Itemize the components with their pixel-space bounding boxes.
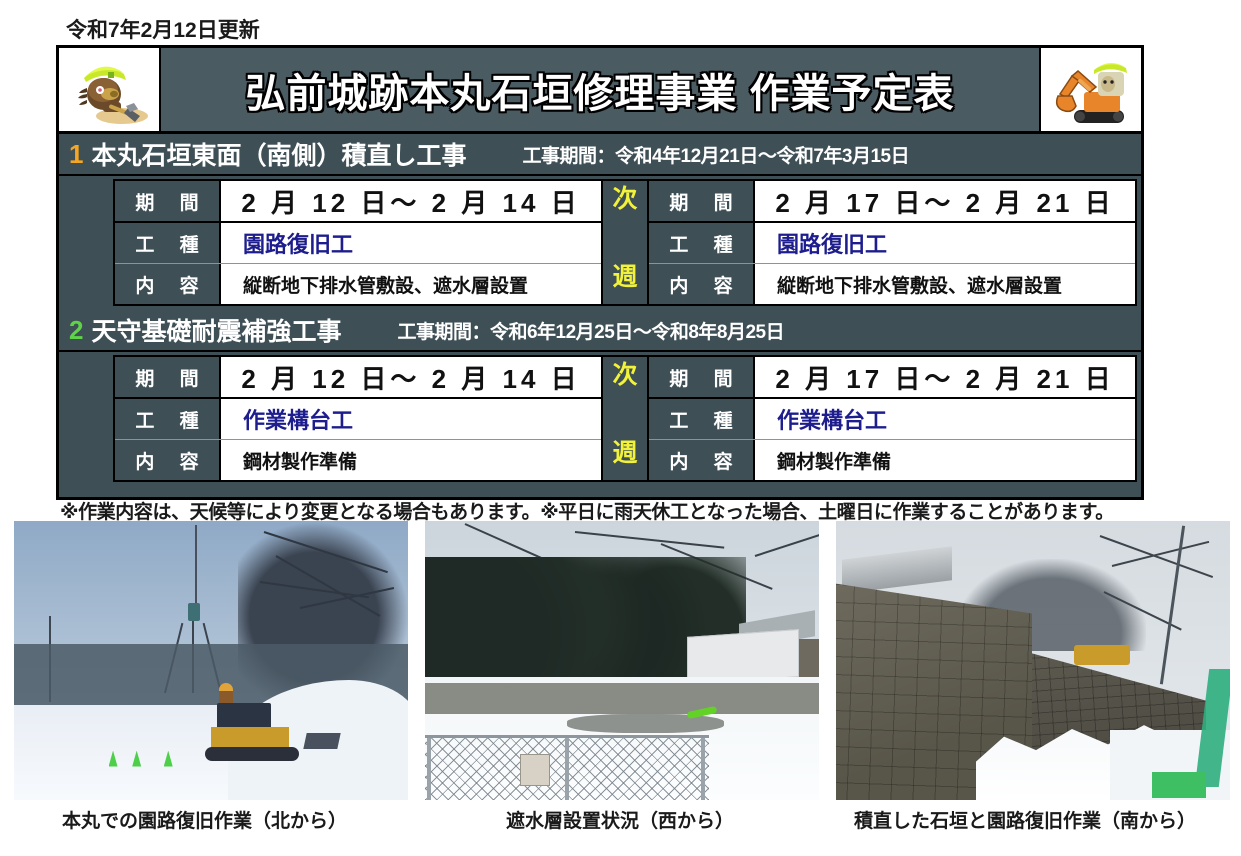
period-value: 2 月 12 日～ 2 月 14 日 bbox=[221, 181, 601, 221]
section-header-2: 2 天守基礎耐震補強工事 工事期間：令和6年12月25日～令和8年8月25日 bbox=[59, 310, 1141, 352]
row-label-body: 内 容 bbox=[115, 264, 221, 304]
table-row: 内 容 縦断地下排水管敷設、遮水層設置 bbox=[649, 263, 1135, 304]
section-title-1: 本丸石垣東面（南側）積直し工事 bbox=[91, 136, 466, 172]
work-schedule-poster: 令和7年2月12日更新 bbox=[0, 0, 1241, 856]
row-label-kind: 工 種 bbox=[115, 223, 221, 263]
table-row: 期 間 2 月 12 日～ 2 月 14 日 bbox=[115, 357, 601, 397]
next-week-char-2: 週 bbox=[612, 265, 637, 290]
worker-mole-digging-icon bbox=[59, 48, 161, 131]
update-date-line: 令和7年2月12日更新 bbox=[66, 14, 260, 44]
next-week-char-1: 次 bbox=[612, 187, 637, 212]
table-row: 期 間 2 月 17 日～ 2 月 21 日 bbox=[649, 181, 1135, 221]
schedule-row-1: 期 間 2 月 12 日～ 2 月 14 日 工 種 園路復旧工 内 容 縦断地… bbox=[59, 176, 1141, 310]
body-value: 鋼材製作準備 bbox=[221, 440, 601, 480]
photo-3-excavator bbox=[1074, 645, 1130, 665]
week-block-1-current: 期 間 2 月 12 日～ 2 月 14 日 工 種 園路復旧工 内 容 縦断地… bbox=[113, 179, 603, 306]
photo-1-crane-hook bbox=[188, 603, 200, 621]
kind-value: 作業構台工 bbox=[221, 399, 601, 439]
next-week-divider-1: 次 週 bbox=[603, 179, 647, 306]
left-gutter-1 bbox=[63, 179, 113, 306]
photo-captions: 本丸での園路復旧作業（北から） 遮水層設置状況（西から） 積直した石垣と園路復旧… bbox=[14, 806, 1230, 840]
week-block-2-current: 期 間 2 月 12 日～ 2 月 14 日 工 種 作業構台工 内 容 鋼材製… bbox=[113, 355, 603, 482]
kind-value: 作業構台工 bbox=[755, 399, 1135, 439]
title-text-wrap: 弘前城跡本丸石垣修理事業 作業予定表 bbox=[161, 48, 1039, 131]
kind-value: 園路復旧工 bbox=[221, 223, 601, 263]
next-week-divider-2: 次 週 bbox=[603, 355, 647, 482]
table-row: 工 種 作業構台工 bbox=[115, 397, 601, 439]
body-value: 鋼材製作準備 bbox=[755, 440, 1135, 480]
section-number-2: 2 bbox=[69, 317, 83, 343]
row-label-body: 内 容 bbox=[115, 440, 221, 480]
week-block-2-next: 期 間 2 月 17 日～ 2 月 21 日 工 種 作業構台工 内 容 鋼材製… bbox=[647, 355, 1137, 482]
table-row: 内 容 鋼材製作準備 bbox=[115, 439, 601, 480]
photo-2-caption: 遮水層設置状況（西から） bbox=[506, 806, 734, 833]
table-row: 期 間 2 月 17 日～ 2 月 21 日 bbox=[649, 357, 1135, 397]
photo-2-waterproof-layer bbox=[567, 714, 725, 734]
photo-2-fence-post bbox=[565, 738, 569, 800]
section-period-2: 工事期間：令和6年12月25日～令和8年8月25日 bbox=[397, 317, 784, 344]
photo-1 bbox=[14, 521, 408, 800]
row-label-kind: 工 種 bbox=[115, 399, 221, 439]
photo-2-fence-post bbox=[701, 738, 705, 800]
photo-2 bbox=[425, 521, 819, 800]
schedule-board: 弘前城跡本丸石垣修理事業 作業予定表 bbox=[56, 45, 1144, 500]
photo-2-fence-post bbox=[427, 738, 431, 800]
photo-1-caption: 本丸での園路復旧作業（北から） bbox=[62, 806, 347, 833]
excavator-icon bbox=[1039, 48, 1141, 131]
period-value: 2 月 12 日～ 2 月 14 日 bbox=[221, 357, 601, 397]
kind-value: 園路復旧工 bbox=[755, 223, 1135, 263]
row-label-kind: 工 種 bbox=[649, 223, 755, 263]
left-gutter-2 bbox=[63, 355, 113, 482]
section-header-1: 1 本丸石垣東面（南側）積直し工事 工事期間：令和4年12月21日～令和7年3月… bbox=[59, 134, 1141, 176]
photo-1-crane-cable bbox=[195, 525, 197, 605]
section-period-1: 工事期間：令和4年12月21日～令和7年3月15日 bbox=[522, 141, 909, 168]
week-block-1-next: 期 間 2 月 17 日～ 2 月 21 日 工 種 園路復旧工 内 容 縦断地… bbox=[647, 179, 1137, 306]
photo-2-exposed-ground bbox=[425, 683, 819, 714]
table-row: 期 間 2 月 12 日～ 2 月 14 日 bbox=[115, 181, 601, 221]
period-value: 2 月 17 日～ 2 月 21 日 bbox=[755, 181, 1135, 221]
row-label-body: 内 容 bbox=[649, 264, 755, 304]
section-number-1: 1 bbox=[69, 141, 83, 167]
photo-strip bbox=[14, 521, 1230, 801]
row-label-period: 期 間 bbox=[649, 181, 755, 221]
footnote: ※作業内容は、天候等により変更となる場合もあります。※平日に雨天休工となった場合… bbox=[60, 497, 1190, 524]
photo-3-green-box bbox=[1152, 772, 1206, 798]
title-bar: 弘前城跡本丸石垣修理事業 作業予定表 bbox=[59, 48, 1141, 134]
table-row: 工 種 作業構台工 bbox=[649, 397, 1135, 439]
body-value: 縦断地下排水管敷設、遮水層設置 bbox=[221, 264, 601, 304]
row-label-kind: 工 種 bbox=[649, 399, 755, 439]
table-row: 内 容 鋼材製作準備 bbox=[649, 439, 1135, 480]
photo-2-sign bbox=[520, 754, 550, 786]
row-label-period: 期 間 bbox=[115, 181, 221, 221]
body-value: 縦断地下排水管敷設、遮水層設置 bbox=[755, 264, 1135, 304]
photo-3 bbox=[836, 521, 1230, 800]
photo-1-bulldozer bbox=[203, 703, 323, 761]
next-week-char-2: 週 bbox=[612, 441, 637, 466]
period-value: 2 月 17 日～ 2 月 21 日 bbox=[755, 357, 1135, 397]
schedule-row-2: 期 間 2 月 12 日～ 2 月 14 日 工 種 作業構台工 内 容 鋼材製… bbox=[59, 352, 1141, 486]
section-title-2: 天守基礎耐震補強工事 bbox=[91, 312, 341, 348]
next-week-char-1: 次 bbox=[612, 363, 637, 388]
row-label-body: 内 容 bbox=[649, 440, 755, 480]
row-label-period: 期 間 bbox=[649, 357, 755, 397]
row-label-period: 期 間 bbox=[115, 357, 221, 397]
table-row: 工 種 園路復旧工 bbox=[649, 221, 1135, 263]
table-row: 工 種 園路復旧工 bbox=[115, 221, 601, 263]
photo-3-caption: 積直した石垣と園路復旧作業（南から） bbox=[854, 806, 1196, 833]
page-title: 弘前城跡本丸石垣修理事業 作業予定表 bbox=[245, 61, 954, 119]
table-row: 内 容 縦断地下排水管敷設、遮水層設置 bbox=[115, 263, 601, 304]
